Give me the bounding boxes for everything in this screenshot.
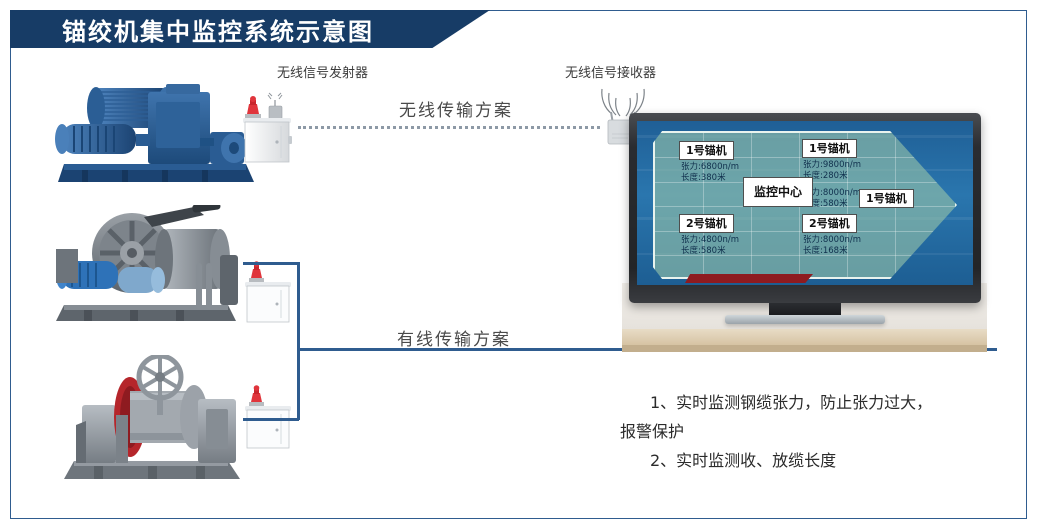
control-cabinet-2 (243, 258, 299, 329)
label-wired-scheme: 有线传输方案 (397, 325, 511, 350)
description-line-2: 报警保护 (620, 417, 1020, 446)
station-4-length: 长度:580米 (681, 246, 726, 257)
station-5-length: 长度:168米 (803, 246, 848, 257)
description-line-1: 1、实时监测钢缆张力，防止张力过大， (620, 388, 1020, 417)
station-box-1[interactable]: 1号锚机 (679, 141, 734, 160)
station-box-bow[interactable]: 1号锚机 (859, 189, 914, 208)
station-2-tension: 张力:9800n/m (803, 160, 861, 171)
station-box-5[interactable]: 2号锚机 (802, 214, 857, 233)
station-1-length: 长度:380米 (681, 173, 726, 184)
diagram-root: 锚绞机集中监控系统示意图 (0, 0, 1039, 531)
wired-link-branch-bottom (243, 418, 299, 421)
description-line-3: 2、实时监测收、放缆长度 (620, 446, 1020, 475)
station-1-tension: 张力:6800n/m (681, 162, 739, 173)
description-text-3: 2、实时监测收、放缆长度 (650, 451, 836, 470)
desk-edge (622, 345, 987, 352)
winch-machine-3 (56, 355, 261, 490)
label-wireless-receiver: 无线信号接收器 (565, 62, 656, 81)
winch-machine-1 (48, 72, 263, 190)
wireless-link-dotted-line (298, 126, 600, 129)
station-box-4[interactable]: 2号锚机 (679, 214, 734, 233)
control-cabinet-1 (241, 92, 301, 169)
desk-top (622, 329, 987, 345)
monitoring-center-box[interactable]: 监控中心 (743, 177, 813, 207)
station-4-tension: 张力:4800n/m (681, 235, 739, 246)
page-title: 锚绞机集中监控系统示意图 (62, 12, 374, 47)
label-wireless-transmitter: 无线信号发射器 (277, 62, 368, 81)
ship-hull-waterline (685, 274, 813, 283)
description-block: 1、实时监测钢缆张力，防止张力过大， 报警保护 2、实时监测收、放缆长度 (620, 388, 1020, 475)
winch-machine-2 (44, 205, 259, 330)
wired-link-branch-top (243, 262, 299, 265)
description-text-1: 1、实时监测钢缆张力，防止张力过大， (650, 393, 932, 412)
wired-link-vertical (297, 262, 300, 420)
monitor-television: 1号锚机 张力:6800n/m 长度:380米 1号锚机 张力:9800n/m … (629, 113, 981, 323)
station-box-2[interactable]: 1号锚机 (802, 139, 857, 158)
station-5-tension: 张力:8000n/m (803, 235, 861, 246)
tv-screen: 1号锚机 张力:6800n/m 长度:380米 1号锚机 张力:9800n/m … (637, 121, 973, 285)
title-banner: 锚绞机集中监控系统示意图 (10, 10, 490, 48)
tv-stand-base (725, 315, 885, 324)
alarm-beacon-icon (245, 96, 261, 118)
label-wireless-scheme: 无线传输方案 (399, 96, 513, 121)
alarm-beacon-icon (249, 385, 264, 406)
